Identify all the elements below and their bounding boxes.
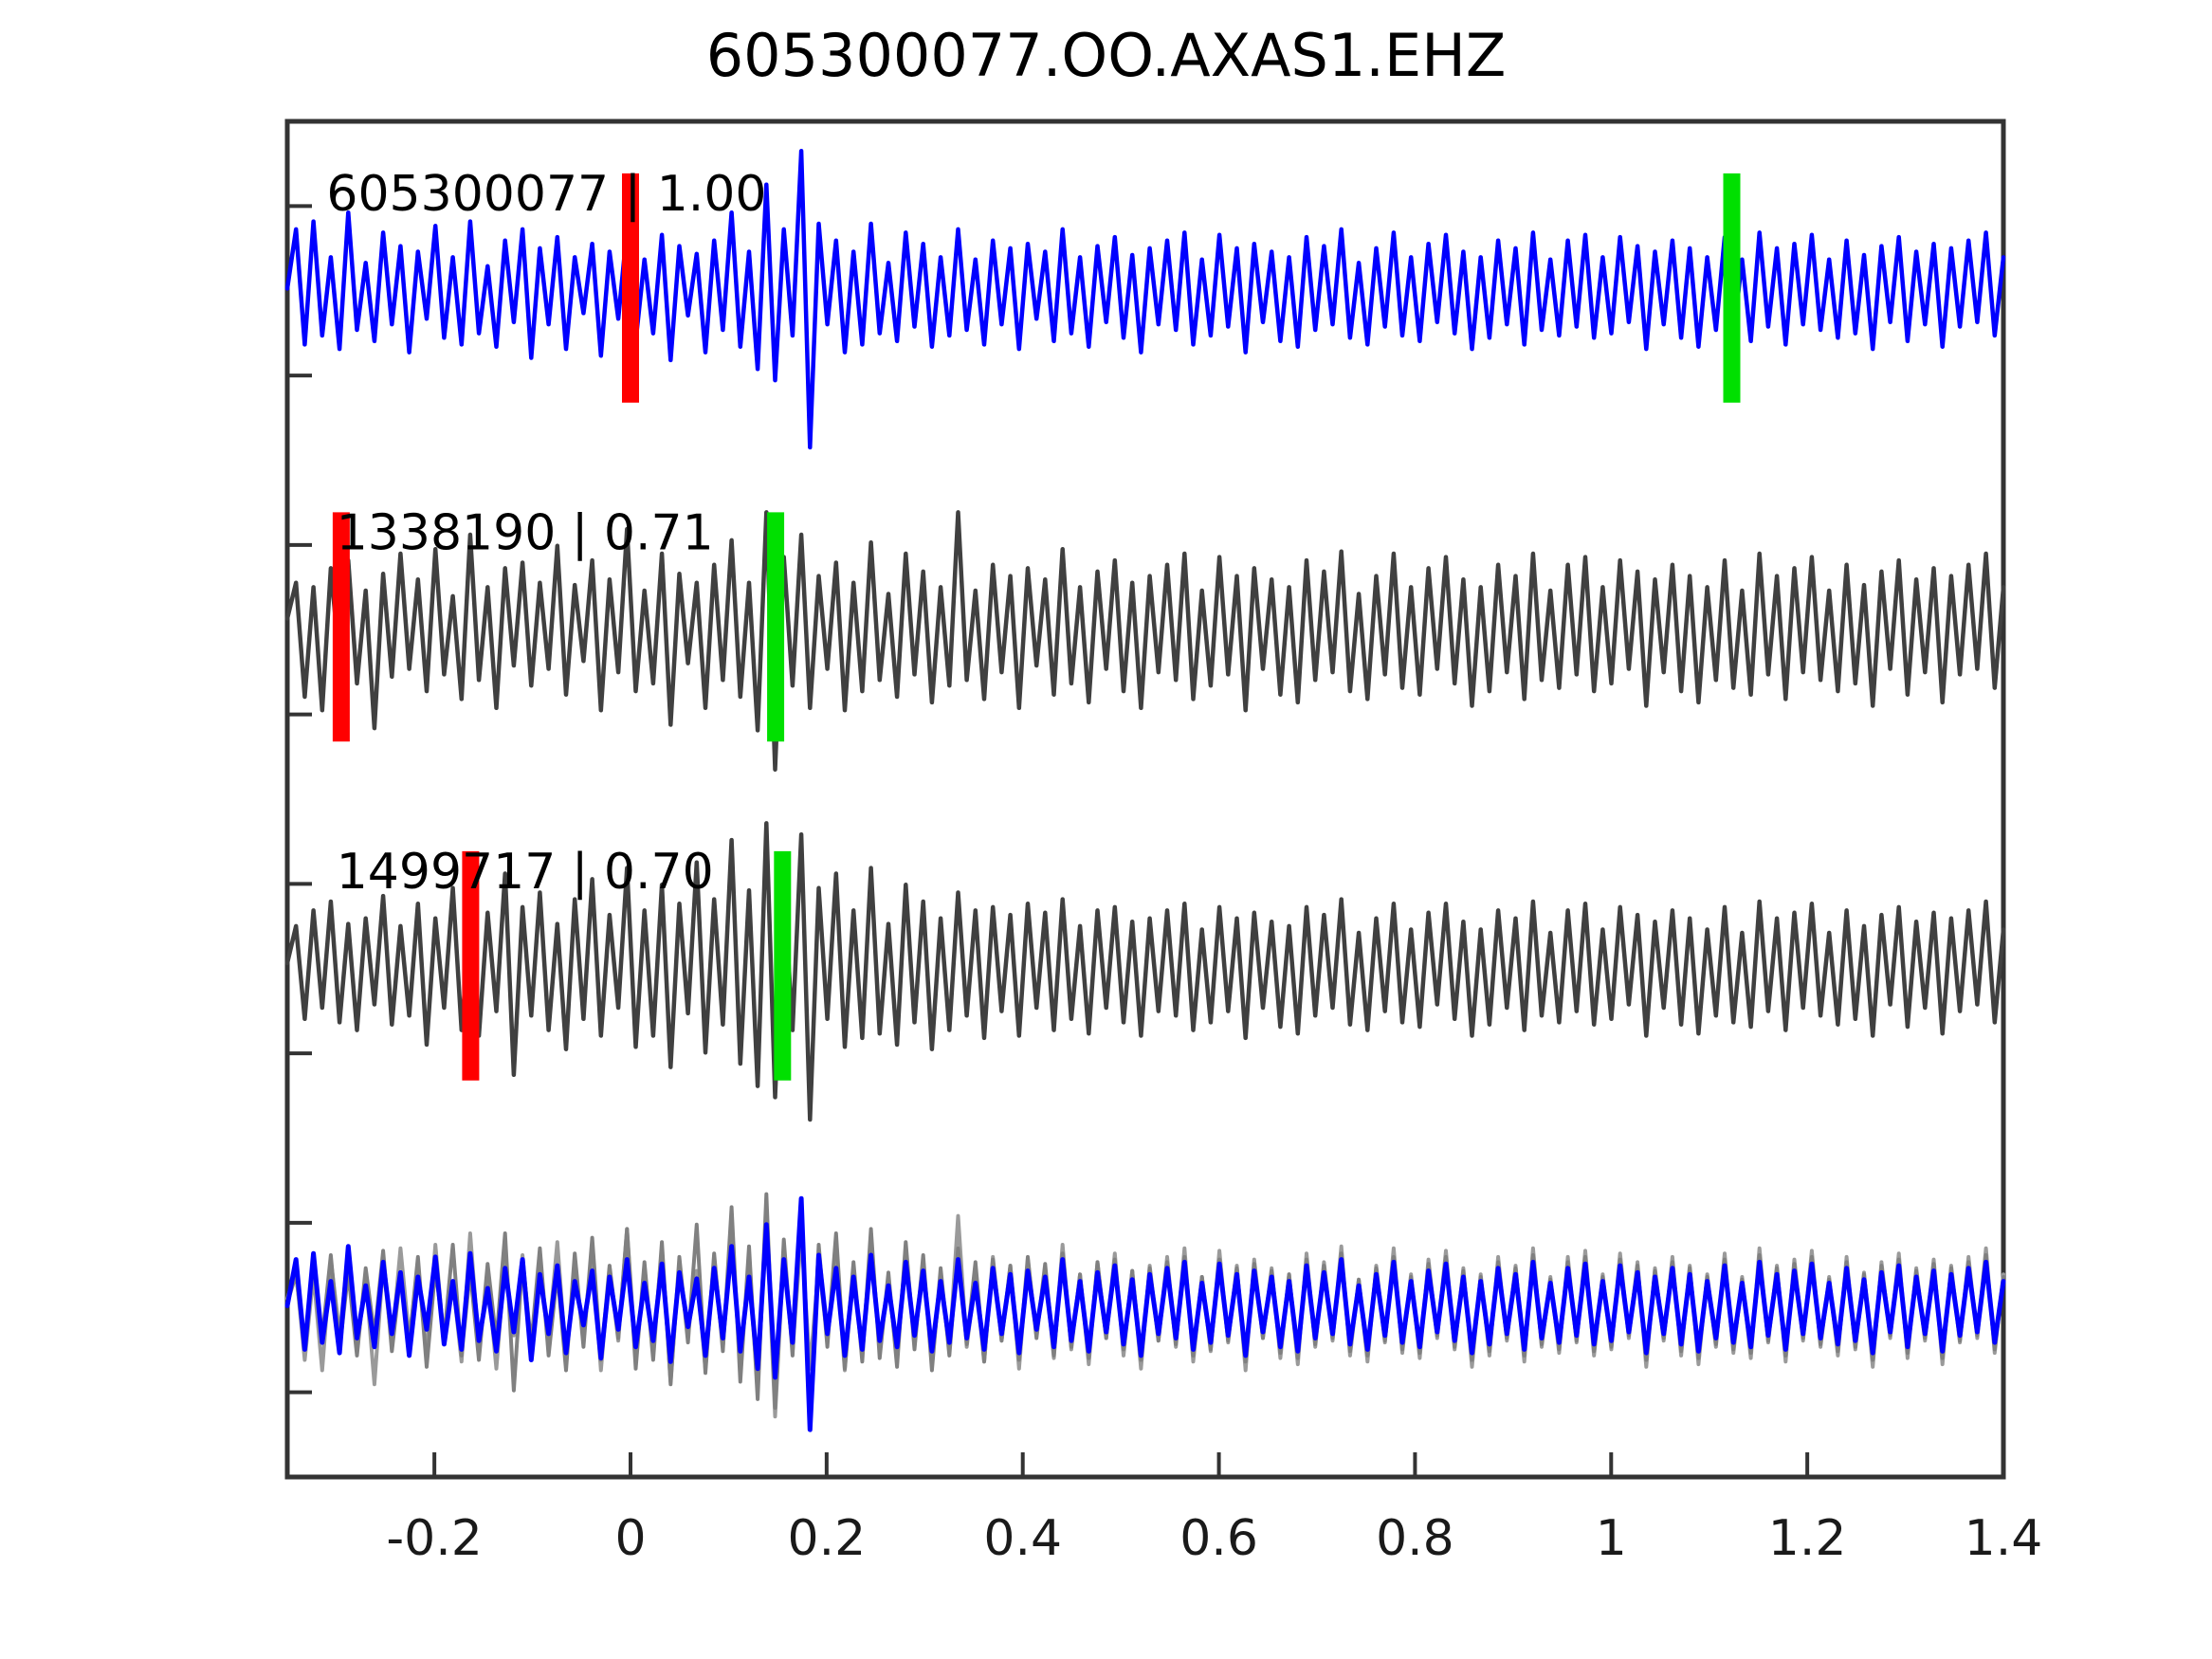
s-pick-marker-1499717 (774, 851, 791, 1081)
trace-label-1499717: 1499717 | 0.70 (337, 844, 714, 901)
figure-root: 605300077.OO.AXAS1.EHZ 605300077 | 1.001… (0, 0, 2212, 1659)
waveform-plot: 605300077 | 1.001338190 | 0.711499717 | … (0, 0, 2212, 1659)
trace-label-1338190: 1338190 | 0.71 (337, 504, 714, 561)
x-tick-label: -0.2 (386, 1510, 482, 1567)
x-axis-tick-labels: -0.200.20.40.60.811.21.4 (386, 1510, 2042, 1567)
x-tick-label: 0.2 (788, 1510, 867, 1567)
x-tick-label: 0 (614, 1510, 646, 1567)
x-tick-label: 1.4 (1965, 1510, 2043, 1567)
s-pick-marker-605300077 (1724, 173, 1741, 403)
s-pick-marker-1338190 (767, 512, 784, 741)
trace-label-605300077: 605300077 | 1.00 (326, 166, 766, 223)
x-tick-label: 0.6 (1179, 1510, 1258, 1567)
x-tick-label: 1 (1596, 1510, 1627, 1567)
waveform-traces (287, 151, 2003, 1120)
x-tick-label: 0.4 (983, 1510, 1062, 1567)
x-tick-label: 1.2 (1768, 1510, 1847, 1567)
x-tick-label: 0.8 (1376, 1510, 1454, 1567)
